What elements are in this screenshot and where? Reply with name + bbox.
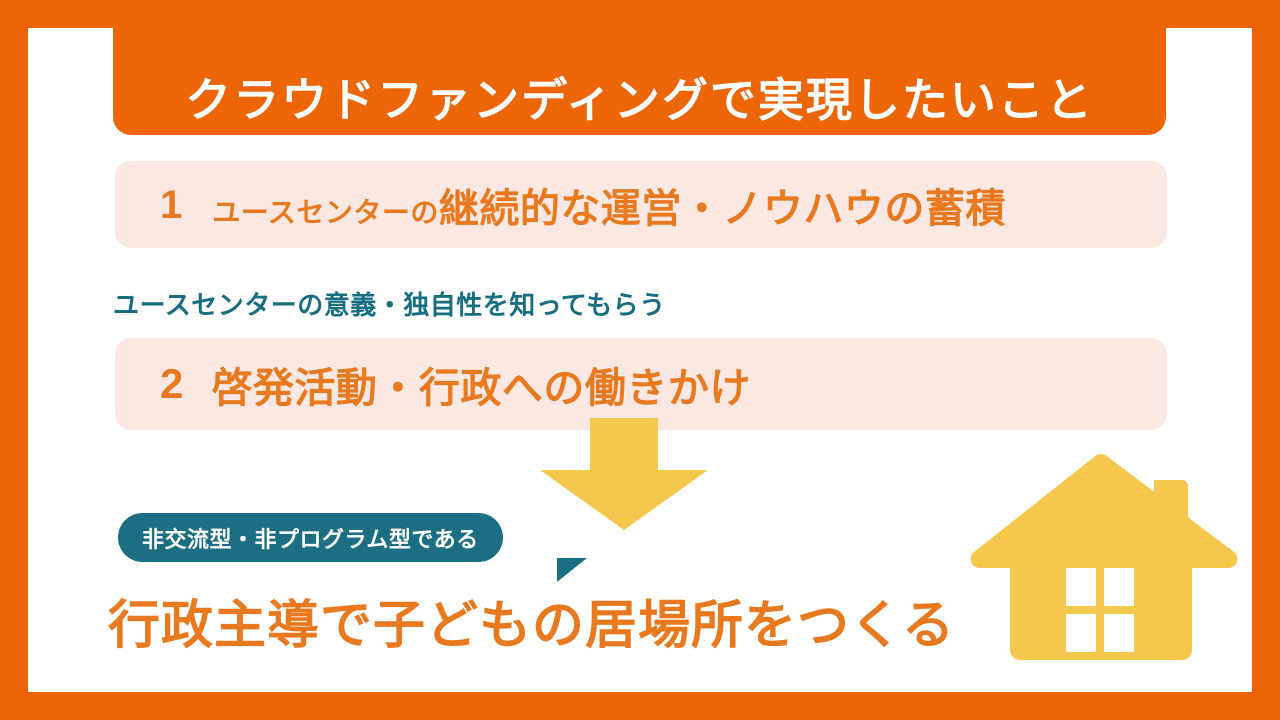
item-number-2: 2	[160, 363, 183, 405]
slide-root: クラウドファンディングで実現したいこと 1 ユースセンターの 継続的な運営・ノウ…	[0, 0, 1280, 720]
page-title: クラウドファンディングで実現したいこと	[185, 77, 1094, 123]
item-row-2: 2 啓発活動・行政への働きかけ	[115, 338, 1167, 430]
down-arrow-icon	[536, 418, 712, 532]
item-lead-1: ユースセンターの	[212, 191, 439, 231]
item-text-2: 啓発活動・行政への働きかけ	[211, 354, 751, 414]
speech-bubble-tail	[557, 558, 587, 582]
title-banner: クラウドファンディングで実現したいこと	[113, 28, 1166, 135]
item-number-1: 1	[160, 185, 182, 225]
item-row-1: 1 ユースセンターの 継続的な運営・ノウハウの蓄積	[115, 161, 1167, 248]
sub-line-text: ユースセンターの意義・独自性を知ってもらう	[113, 285, 666, 322]
item-text-1: ユースセンターの 継続的な運営・ノウハウの蓄積	[212, 176, 1006, 234]
speech-bubble: 非交流型・非プログラム型である	[118, 513, 503, 562]
item-emphasis-2: 啓発活動・行政への働きかけ	[211, 354, 751, 414]
house-icon	[968, 448, 1240, 664]
speech-bubble-text: 非交流型・非プログラム型である	[142, 522, 479, 554]
slide-canvas: クラウドファンディングで実現したいこと 1 ユースセンターの 継続的な運営・ノウ…	[28, 28, 1252, 692]
headline-text: 行政主導で子どもの居場所をつくる	[108, 598, 955, 655]
item-emphasis-1: 継続的な運営・ノウハウの蓄積	[439, 176, 1006, 234]
